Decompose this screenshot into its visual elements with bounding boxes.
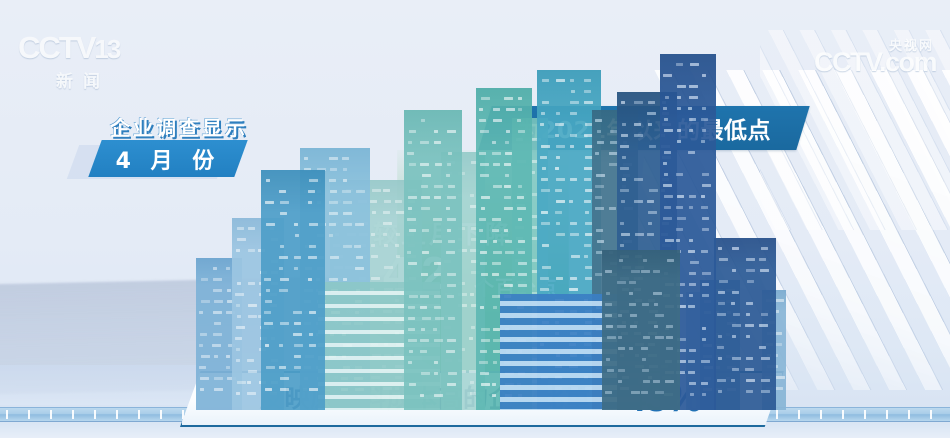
- building-window: [663, 184, 672, 187]
- building-window: [226, 267, 230, 270]
- building-window: [717, 379, 726, 382]
- building-window: [618, 369, 625, 372]
- building-window: [702, 74, 706, 77]
- building-window: [480, 240, 487, 243]
- building-window: [248, 315, 257, 318]
- building-window: [342, 157, 349, 160]
- building-window: [717, 313, 726, 316]
- building-window: [264, 322, 273, 325]
- deck-marking: [28, 410, 30, 419]
- building-window: [329, 223, 336, 226]
- cctv13-logo-main: CCTV13: [18, 30, 148, 66]
- building-window: [237, 282, 241, 285]
- building-window: [266, 289, 270, 292]
- building-window: [622, 123, 626, 126]
- building-window: [631, 270, 640, 273]
- building-window: [556, 178, 565, 181]
- building-window: [236, 359, 240, 362]
- building-window: [409, 130, 416, 133]
- building-window: [264, 311, 271, 314]
- building-window: [585, 123, 592, 126]
- building-window: [492, 141, 496, 144]
- building-window: [420, 141, 429, 144]
- building-window: [570, 134, 577, 137]
- building-window: [541, 112, 545, 115]
- building-window: [383, 189, 390, 192]
- building-window: [518, 185, 522, 188]
- building-window: [596, 174, 605, 177]
- building-window: [308, 190, 315, 193]
- building-window: [408, 306, 415, 309]
- building-window: [620, 244, 624, 247]
- building-window: [434, 394, 443, 397]
- building-window: [641, 391, 648, 394]
- building-window: [689, 239, 693, 242]
- building-window: [492, 152, 501, 155]
- building-window: [618, 336, 622, 339]
- building-window: [584, 255, 588, 258]
- deck-marking: [6, 410, 8, 419]
- building-window: [435, 317, 444, 320]
- building-window: [759, 346, 766, 349]
- building-window: [479, 152, 486, 155]
- month-banner-label: 4 月 份: [95, 140, 241, 177]
- building-window: [664, 151, 671, 154]
- building-window: [200, 333, 207, 336]
- building-window: [422, 229, 429, 232]
- building-window: [556, 200, 565, 203]
- building-window: [447, 383, 456, 386]
- building-window: [407, 218, 416, 221]
- building-window: [689, 382, 696, 385]
- building-window: [408, 262, 417, 265]
- building-window: [689, 349, 696, 352]
- building-window: [746, 335, 750, 338]
- building-window: [235, 337, 242, 340]
- building-window: [677, 217, 686, 220]
- building-window: [701, 118, 708, 121]
- building-window: [761, 313, 768, 316]
- building-window: [761, 390, 770, 393]
- building-window: [481, 196, 490, 199]
- building-window: [343, 179, 347, 182]
- building-window: [247, 359, 254, 362]
- building-window: [569, 200, 573, 203]
- building-window: [702, 173, 709, 176]
- building-window: [775, 299, 784, 302]
- building-window: [213, 278, 222, 281]
- building-window: [556, 233, 565, 236]
- cctv-com-logo: 央视网 CCTV.com: [771, 33, 936, 79]
- building-window: [447, 339, 456, 342]
- building-window: [280, 212, 287, 215]
- building-window: [718, 247, 722, 250]
- channel-name-label: 新闻: [18, 67, 148, 92]
- building-window: [248, 249, 255, 252]
- building-window: [664, 195, 673, 198]
- building-window: [434, 372, 438, 375]
- building-window: [446, 251, 455, 254]
- building-window: [653, 292, 662, 295]
- building-window: [199, 311, 203, 314]
- building-window: [408, 317, 415, 320]
- building-window: [448, 185, 455, 188]
- building-window: [421, 196, 430, 199]
- building-window: [702, 228, 709, 231]
- building-window: [642, 303, 649, 306]
- building-window: [493, 108, 500, 111]
- building-window: [355, 223, 364, 226]
- building-window: [421, 119, 425, 122]
- building-window: [517, 119, 521, 122]
- building-window: [448, 240, 455, 243]
- building-window: [655, 314, 664, 317]
- deck-marking: [50, 410, 52, 419]
- building-window: [647, 233, 654, 236]
- building-window: [396, 255, 400, 258]
- building-window: [676, 63, 683, 66]
- building-window: [434, 273, 441, 276]
- building-window: [605, 314, 612, 317]
- building-window: [236, 304, 240, 307]
- building-window: [746, 357, 753, 360]
- building-window: [555, 167, 559, 170]
- building-window: [689, 85, 698, 88]
- channel-number: 13: [94, 34, 119, 64]
- building-window: [236, 326, 245, 329]
- building-window: [447, 284, 456, 287]
- building-window: [666, 336, 673, 339]
- building-window: [571, 255, 580, 258]
- building-window: [408, 328, 415, 331]
- building-window: [329, 212, 338, 215]
- building-window: [518, 240, 525, 243]
- month-banner: 4 月 份: [95, 140, 245, 178]
- building-window: [420, 339, 429, 342]
- building-window: [505, 152, 512, 155]
- building-window: [479, 218, 486, 221]
- building-window: [732, 357, 741, 360]
- building-window: [294, 322, 301, 325]
- building-window: [447, 196, 456, 199]
- building-window: [622, 178, 626, 181]
- building-window: [492, 383, 496, 386]
- building-window: [619, 259, 623, 262]
- building-window: [746, 258, 755, 261]
- building-window: [479, 229, 483, 232]
- building-window: [584, 101, 593, 104]
- deck-marking: [820, 410, 822, 419]
- building-window: [653, 270, 660, 273]
- building-window: [666, 325, 673, 328]
- building-window: [213, 311, 222, 314]
- building-window: [570, 145, 574, 148]
- building-window: [384, 266, 393, 269]
- building-window: [595, 196, 602, 199]
- building-window: [701, 140, 705, 143]
- building-window: [621, 200, 625, 203]
- building-window: [701, 206, 708, 209]
- building-window: [621, 233, 630, 236]
- building-window: [649, 145, 656, 148]
- deck-marking: [930, 410, 932, 419]
- building-window: [493, 163, 500, 166]
- building-window: [701, 360, 710, 363]
- building-window: [689, 206, 693, 209]
- building-window: [266, 366, 275, 369]
- building-window: [677, 129, 681, 132]
- building-window: [518, 130, 525, 133]
- deck-marking: [160, 410, 162, 419]
- building-window: [717, 346, 724, 349]
- building-window: [688, 107, 692, 110]
- building-window: [329, 157, 338, 160]
- building-window: [746, 379, 755, 382]
- building-window: [746, 269, 755, 272]
- building-window: [446, 174, 450, 177]
- building-window: [408, 196, 417, 199]
- building-window: [621, 101, 625, 104]
- building-window: [689, 118, 696, 121]
- building-window: [493, 185, 502, 188]
- building-window: [665, 239, 674, 242]
- building-window: [571, 90, 575, 93]
- building-window: [480, 262, 487, 265]
- building-window: [226, 366, 230, 369]
- building: [602, 250, 680, 410]
- building-window: [634, 134, 643, 137]
- building-window: [329, 278, 338, 281]
- building-window: [647, 112, 656, 115]
- building-window: [409, 350, 413, 353]
- building-window: [343, 278, 347, 281]
- building-window: [701, 250, 708, 253]
- building-window: [505, 174, 509, 177]
- building-window: [570, 79, 574, 82]
- building-window: [409, 295, 418, 298]
- building-window: [280, 388, 289, 391]
- building-window: [761, 247, 768, 250]
- building-window: [667, 259, 674, 262]
- building-window: [718, 291, 725, 294]
- building-window: [447, 273, 456, 276]
- deck-marking: [116, 410, 118, 419]
- building-window: [677, 85, 686, 88]
- building-window: [236, 249, 240, 252]
- building-window: [481, 339, 490, 342]
- building-window: [395, 200, 402, 203]
- building-window: [492, 229, 499, 232]
- building-window: [702, 393, 706, 396]
- building-window: [570, 222, 577, 225]
- building-window: [265, 388, 272, 391]
- building-window: [702, 217, 709, 220]
- building-window: [470, 381, 474, 384]
- building-window: [433, 240, 442, 243]
- building-window: [247, 392, 256, 395]
- building-window: [506, 273, 515, 276]
- building-window: [470, 293, 474, 296]
- building-window: [504, 284, 513, 287]
- building-window: [732, 368, 739, 371]
- building-window: [556, 222, 560, 225]
- building-window: [677, 195, 684, 198]
- building-window: [556, 79, 565, 82]
- building-window: [481, 383, 490, 386]
- building-window: [630, 314, 637, 317]
- building-window: [518, 262, 527, 265]
- building-window: [280, 245, 284, 248]
- building-window: [330, 190, 337, 193]
- building-window: [620, 222, 624, 225]
- building-window: [702, 129, 706, 132]
- building-window: [481, 97, 490, 100]
- building-window: [237, 315, 241, 318]
- building-window: [236, 348, 240, 351]
- building-window: [688, 371, 695, 374]
- building-window: [446, 207, 450, 210]
- building-window: [556, 112, 560, 115]
- building-window: [555, 134, 559, 137]
- building-window: [493, 251, 502, 254]
- building-window: [447, 218, 456, 221]
- building-window: [595, 152, 599, 155]
- deck-marking: [886, 410, 888, 419]
- cctv-com-logo-en: CCTV.com: [814, 47, 936, 78]
- building-window: [595, 207, 604, 210]
- building-window: [492, 394, 496, 397]
- building-window: [718, 302, 725, 305]
- building-window: [585, 277, 592, 280]
- building-window: [481, 207, 485, 210]
- building-window: [666, 347, 673, 350]
- deck-marking: [908, 410, 910, 419]
- building-window: [643, 336, 650, 339]
- building-window: [701, 382, 708, 385]
- building-window: [585, 266, 592, 269]
- building-window: [309, 333, 313, 336]
- building-window: [447, 163, 451, 166]
- building-window: [293, 311, 302, 314]
- building-window: [702, 184, 711, 187]
- building-window: [540, 277, 549, 280]
- building-window: [541, 145, 550, 148]
- building-window: [343, 201, 352, 204]
- building-window: [407, 251, 411, 254]
- building-window: [556, 156, 560, 159]
- building-window: [676, 239, 680, 242]
- building-window: [643, 380, 650, 383]
- building-window: [309, 223, 318, 226]
- building-window: [629, 292, 633, 295]
- building-window: [664, 173, 668, 176]
- building-window: [647, 200, 654, 203]
- building-window: [518, 284, 527, 287]
- building-window: [617, 325, 626, 328]
- building-window: [420, 163, 429, 166]
- building-window: [653, 380, 660, 383]
- building-window: [214, 355, 218, 358]
- building-window: [702, 327, 706, 330]
- building-window: [719, 258, 728, 261]
- building-window: [689, 96, 698, 99]
- building-window: [329, 234, 333, 237]
- building-window: [227, 289, 231, 292]
- building-window: [655, 336, 664, 339]
- building-window: [505, 240, 512, 243]
- building-window: [690, 393, 694, 396]
- building-window: [665, 380, 674, 383]
- building-window: [605, 391, 612, 394]
- building-window: [570, 112, 577, 115]
- building-window: [226, 355, 230, 358]
- news-graphic: 企业调查显示 4 月 份 为2021年以来的最低点 较上月下降 4.2 个百分点…: [0, 0, 950, 438]
- building-window: [629, 303, 636, 306]
- building-window: [199, 344, 203, 347]
- building-window: [676, 206, 683, 209]
- building-window: [265, 344, 269, 347]
- building-window: [732, 247, 739, 250]
- building-window: [372, 211, 376, 214]
- building-window: [606, 325, 613, 328]
- building-window: [480, 163, 489, 166]
- building-window: [761, 379, 770, 382]
- building-window: [634, 123, 641, 126]
- building-window: [506, 130, 510, 133]
- building-window: [279, 289, 288, 292]
- building-window: [688, 305, 695, 308]
- building-window: [732, 291, 739, 294]
- building-window: [506, 108, 515, 111]
- building-window: [447, 229, 451, 232]
- building-window: [199, 366, 206, 369]
- building-window: [329, 179, 336, 182]
- building-window: [664, 206, 671, 209]
- building-window: [747, 280, 754, 283]
- building-window: [618, 380, 622, 383]
- building-window: [356, 190, 365, 193]
- building-window: [480, 251, 487, 254]
- deck-marking: [798, 410, 800, 419]
- building-window: [294, 355, 301, 358]
- building-window: [542, 167, 546, 170]
- building-window: [200, 377, 209, 380]
- building-window: [330, 256, 339, 259]
- building-window: [518, 273, 527, 276]
- building-window: [434, 361, 438, 364]
- building-window: [447, 295, 454, 298]
- building-window: [718, 357, 722, 360]
- building-window: [293, 333, 302, 336]
- building-window: [471, 326, 475, 329]
- building-window: [279, 267, 283, 270]
- building-window: [200, 388, 204, 391]
- building-window: [759, 324, 768, 327]
- building-window: [420, 394, 424, 397]
- building-window: [265, 201, 274, 204]
- building-window: [517, 196, 524, 199]
- building-window: [371, 255, 378, 258]
- building-window: [247, 381, 251, 384]
- building-window: [606, 358, 610, 361]
- building-window: [237, 381, 246, 384]
- building-window: [434, 262, 441, 265]
- building-window: [447, 130, 456, 133]
- building-window: [541, 178, 548, 181]
- building-window: [643, 259, 647, 262]
- building-window: [446, 350, 455, 353]
- building-window: [384, 200, 391, 203]
